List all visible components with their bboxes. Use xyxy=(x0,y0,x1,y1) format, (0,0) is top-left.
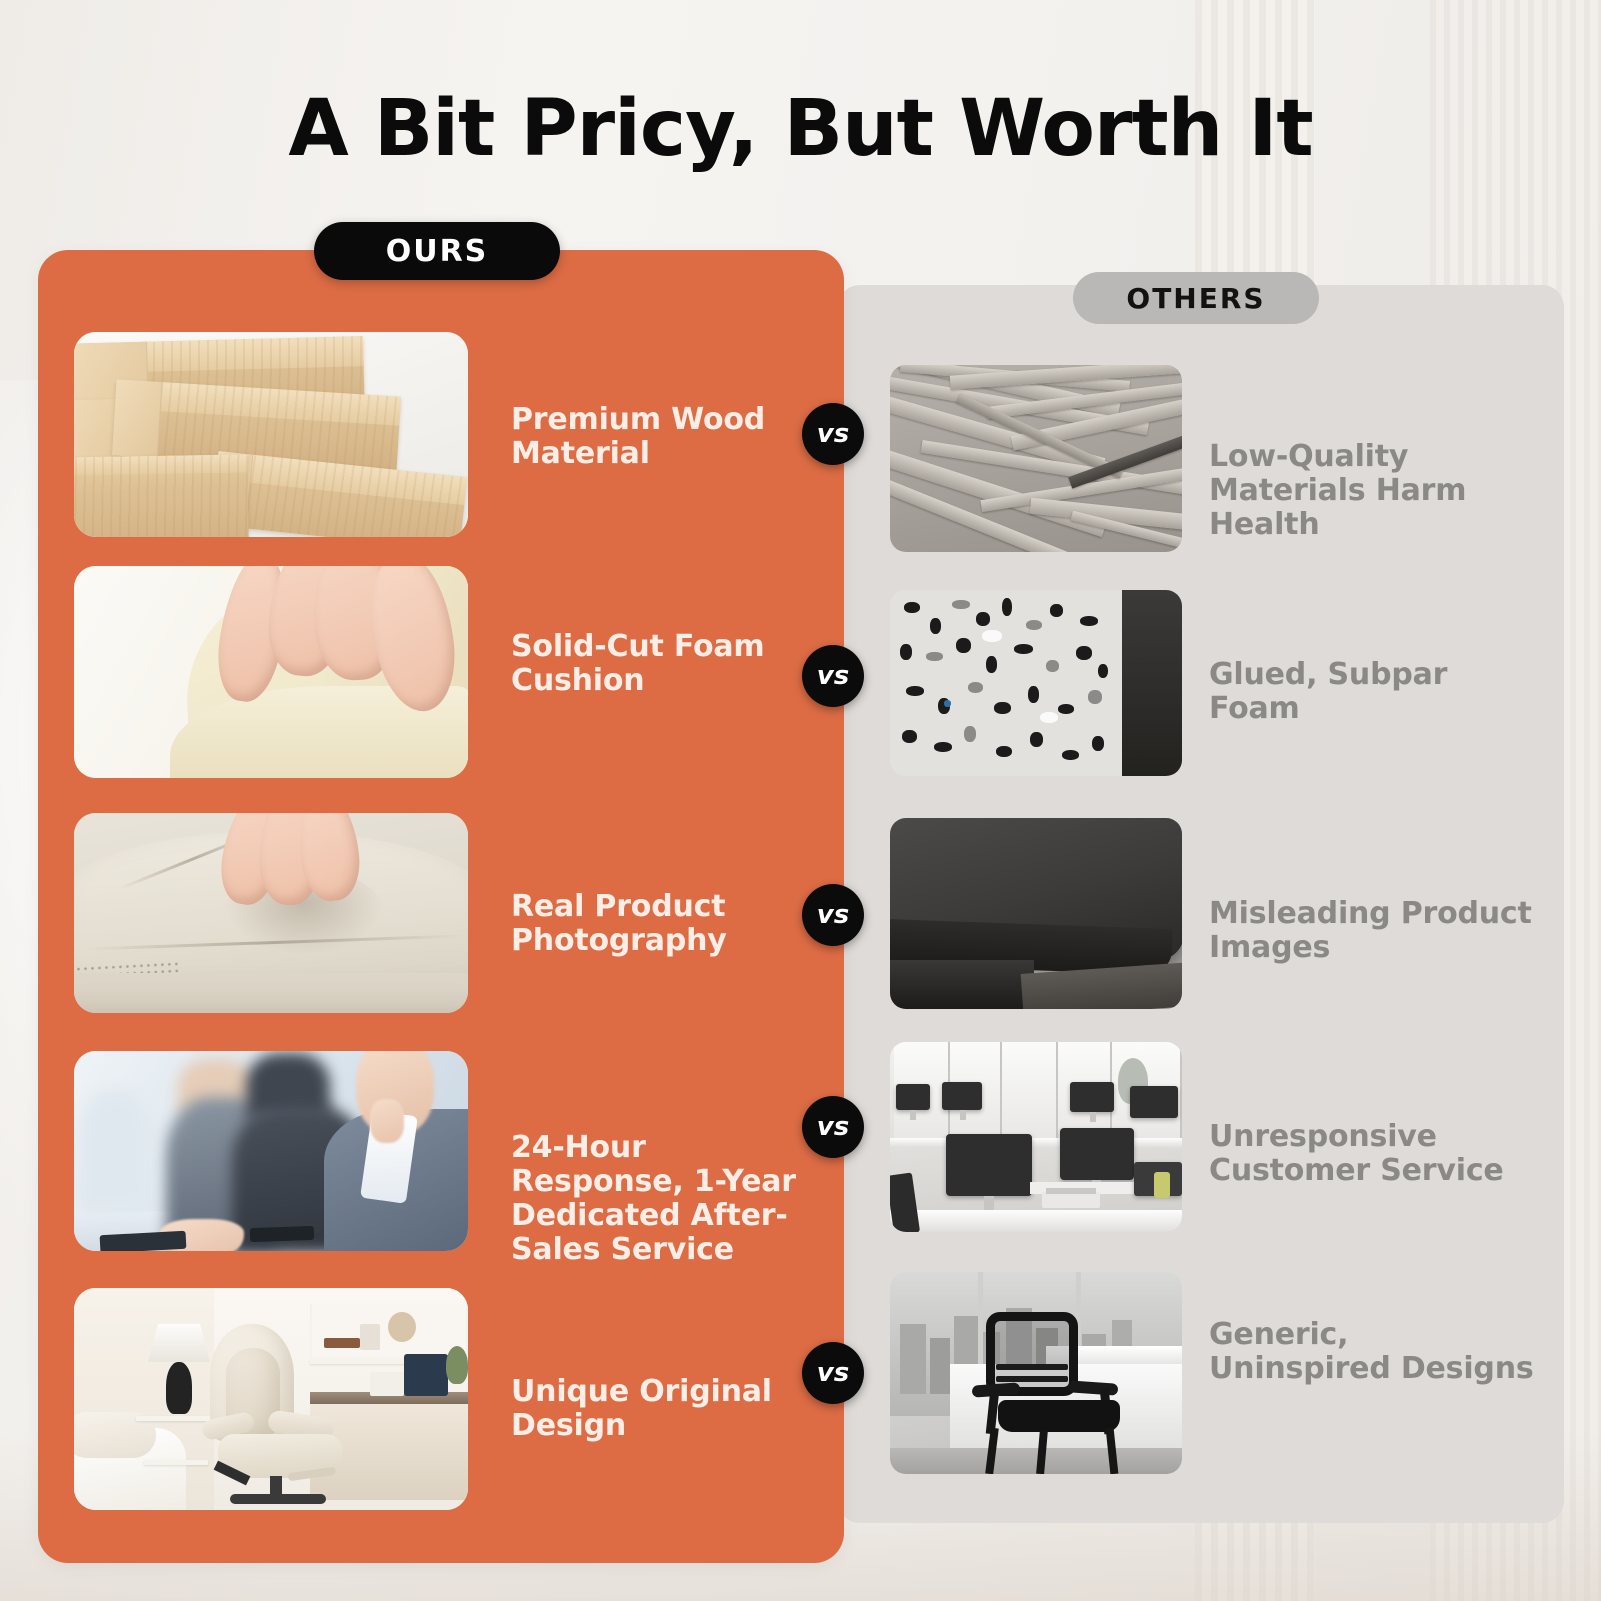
ours-image-customer-service xyxy=(74,1051,468,1251)
ours-label-2: Solid-Cut Foam Cushion xyxy=(511,630,811,698)
ours-image-premium-wood xyxy=(74,332,468,537)
page-title: A Bit Pricy, But Worth It xyxy=(0,84,1601,174)
ours-label-5: Unique Original Design xyxy=(511,1375,811,1443)
others-label-5: Generic, Uninspired Designs xyxy=(1209,1318,1539,1386)
ours-label-1: Premium Wood Material xyxy=(511,403,811,471)
others-image-scrap-wood xyxy=(890,365,1182,552)
vs-badge-2: vs xyxy=(802,645,864,707)
others-label-1: Low-Quality Materials Harm Health xyxy=(1209,440,1539,542)
ours-image-unique-design xyxy=(74,1288,468,1510)
others-image-misleading-images xyxy=(890,818,1182,1009)
ours-image-foam-cushion xyxy=(74,566,468,778)
others-label-4: Unresponsive Customer Service xyxy=(1209,1120,1539,1188)
others-image-subpar-foam xyxy=(890,590,1182,776)
others-image-generic-chair xyxy=(890,1272,1182,1474)
vs-badge-5: vs xyxy=(802,1342,864,1404)
vs-badge-1: vs xyxy=(802,403,864,465)
others-image-empty-office xyxy=(890,1042,1182,1232)
others-badge: OTHERS xyxy=(1073,272,1319,324)
ours-image-real-photography xyxy=(74,813,468,1013)
ours-label-3: Real Product Photography xyxy=(511,890,811,958)
others-label-2: Glued, Subpar Foam xyxy=(1209,658,1539,726)
others-label-3: Misleading Product Images xyxy=(1209,897,1539,965)
ours-label-4: 24-Hour Response, 1-Year Dedicated After… xyxy=(511,1131,811,1267)
ours-badge: OURS xyxy=(314,222,560,280)
vs-badge-4: vs xyxy=(802,1096,864,1158)
vs-badge-3: vs xyxy=(802,884,864,946)
